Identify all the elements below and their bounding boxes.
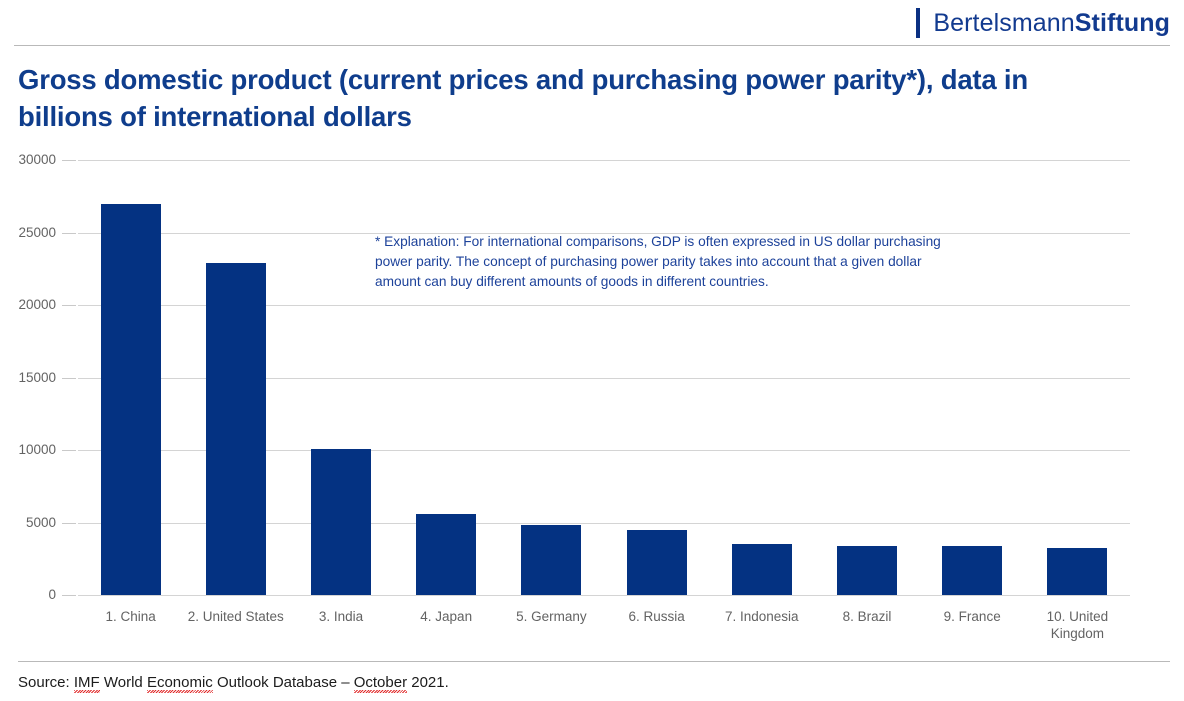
y-axis-label: 10000 [0, 443, 56, 457]
header-divider [14, 45, 1170, 46]
x-axis-label: 4. Japan [394, 608, 499, 625]
x-axis-label: 7. Indonesia [709, 608, 814, 625]
y-axis-tick-mark [62, 595, 76, 596]
x-axis-label: 2. United States [183, 608, 288, 625]
bar [1047, 548, 1107, 595]
y-axis-tick-mark [62, 523, 76, 524]
source-prefix: Source: [18, 674, 74, 691]
source-word-imf: IMF [74, 674, 100, 691]
gridline [78, 523, 1130, 524]
x-axis-label: 1. China [78, 608, 183, 625]
y-axis-label: 0 [0, 588, 56, 602]
explanation-note: * Explanation: For international compari… [375, 232, 951, 292]
x-axis-label: 6. Russia [604, 608, 709, 625]
x-axis-label: 5. Germany [499, 608, 604, 625]
gridline [78, 450, 1130, 451]
logo-text-light: Bertelsmann [933, 9, 1074, 37]
gridline [78, 160, 1130, 161]
y-axis-label: 25000 [0, 226, 56, 240]
chart-page: BertelsmannStiftung Gross domestic produ… [0, 0, 1184, 701]
source-note: Source: IMF World Economic Outlook Datab… [18, 674, 449, 691]
bar [627, 530, 687, 595]
y-axis-tick-mark [62, 160, 76, 161]
gridline [78, 305, 1130, 306]
page-header: BertelsmannStiftung [0, 0, 1184, 46]
bar [942, 546, 1002, 595]
y-axis-tick-mark [62, 378, 76, 379]
bertelsmann-stiftung-logo: BertelsmannStiftung [916, 6, 1170, 40]
x-axis-label: 9. France [920, 608, 1025, 625]
bar [206, 263, 266, 595]
source-word-october: October [354, 674, 407, 691]
source-mid-2: Outlook Database – [213, 674, 354, 691]
bar [837, 546, 897, 595]
source-word-economic: Economic [147, 674, 213, 691]
source-suffix: 2021. [407, 674, 449, 691]
y-axis-tick-mark [62, 233, 76, 234]
y-axis-label: 30000 [0, 153, 56, 167]
x-axis-label: 10. United Kingdom [1025, 608, 1130, 643]
x-axis-label: 3. India [288, 608, 393, 625]
gridline [78, 595, 1130, 596]
logo-bar-icon [916, 8, 920, 38]
bar [521, 525, 581, 595]
bar [101, 204, 161, 596]
y-axis-label: 20000 [0, 298, 56, 312]
bar [311, 449, 371, 595]
footer-divider [18, 661, 1170, 662]
y-axis-tick-mark [62, 450, 76, 451]
bar [732, 544, 792, 595]
y-axis-label: 5000 [0, 516, 56, 530]
y-axis-tick-mark [62, 305, 76, 306]
bar [416, 514, 476, 595]
gridline [78, 378, 1130, 379]
logo-text-bold: Stiftung [1075, 9, 1170, 37]
x-axis-label: 8. Brazil [814, 608, 919, 625]
page-title: Gross domestic product (current prices a… [18, 62, 1108, 135]
y-axis-label: 15000 [0, 371, 56, 385]
logo-text: BertelsmannStiftung [933, 9, 1170, 38]
source-mid-1: World [100, 674, 147, 691]
